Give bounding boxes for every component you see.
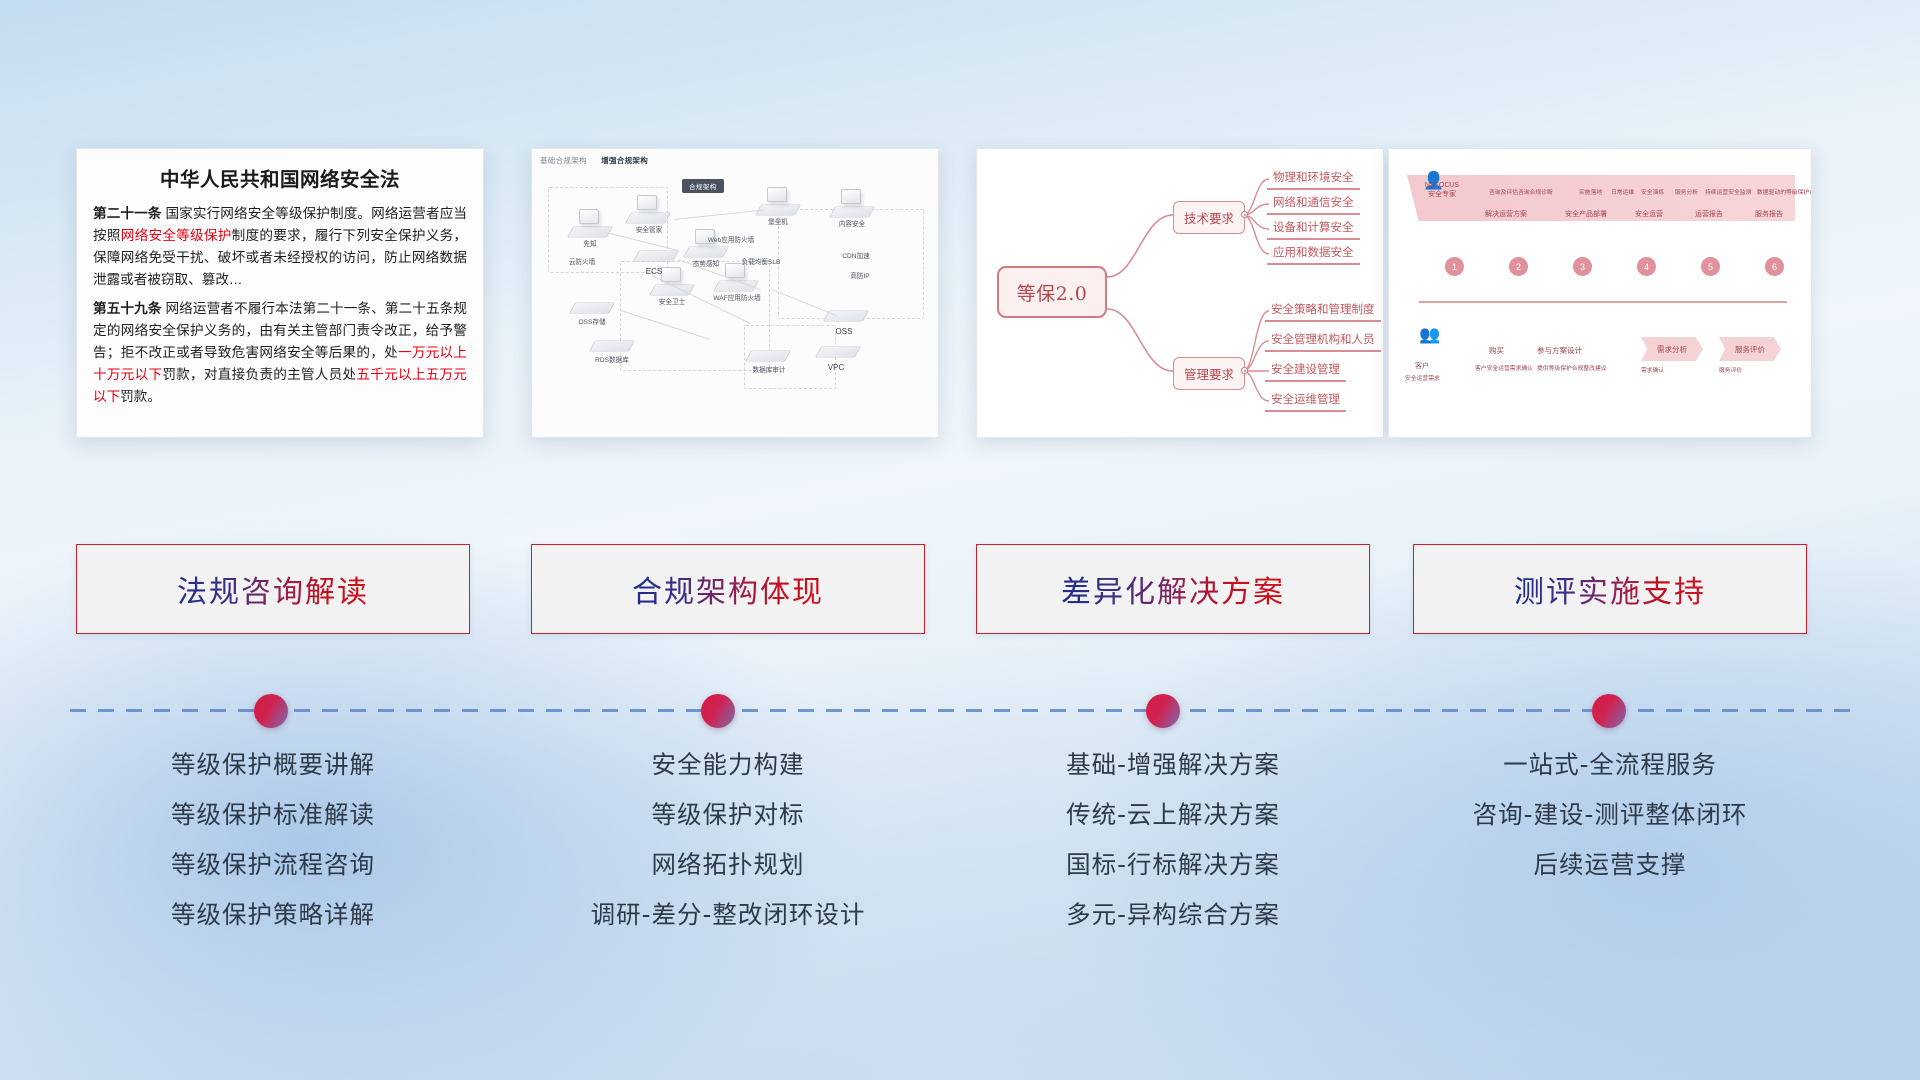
roadmap-bottom-item-3: 服务评价 xyxy=(1719,365,1742,374)
node-label-16: 数据库审计 xyxy=(736,367,802,375)
list-item[interactable]: 基础-增强解决方案 xyxy=(976,740,1370,790)
plate-rds xyxy=(589,341,635,352)
icon-anquanguanjia xyxy=(637,195,657,210)
icon-baoleiji xyxy=(767,187,787,202)
card-mindmap-dengbao[interactable]: 等保2.0 技术要求 物理和环境安全 网络和通信安全 设备和计算安全 应用和数据… xyxy=(976,148,1384,438)
roadmap-top-cell-2: 日常运维 xyxy=(1611,187,1634,196)
article-21-highlight: 网络安全等级保护 xyxy=(121,228,232,243)
roadmap-foot-1: 提供等级保护合规整改建议 xyxy=(1537,363,1607,372)
plate-db-audit xyxy=(745,351,791,362)
roadmap-bottom-item-2: 需求确认 xyxy=(1641,365,1664,374)
node-label-6: 安全卫士 xyxy=(646,299,698,307)
roadmap-step-5[interactable]: 5 xyxy=(1701,257,1720,276)
roadmap-top-cell-0: 咨询及评估咨询合规诊断 xyxy=(1489,187,1553,196)
node-label-15: RDS数据库 xyxy=(580,357,644,365)
connector-2 xyxy=(674,210,764,220)
node-label-11: 高防IP xyxy=(838,273,882,281)
roadmap-pill-1: 安全产品部署 xyxy=(1565,209,1607,219)
roadmap-step-3[interactable]: 3 xyxy=(1573,257,1592,276)
roadmap-pill-4: 服务报告 xyxy=(1755,209,1783,219)
customer-icon: 👥 xyxy=(1419,325,1440,345)
roadmap-top-cell-4: 服务分析 xyxy=(1675,187,1698,196)
section-headings-row: 法规咨询解读 合规架构体现 差异化解决方案 测评实施支持 xyxy=(0,544,1920,634)
plate-ecs xyxy=(633,251,679,262)
section-heading-1[interactable]: 法规咨询解读 xyxy=(76,544,470,634)
roadmap-bottom-item-1: 参与方案设计 xyxy=(1537,345,1582,356)
preview-cards-row: 中华人民共和国网络安全法 第二十一条 国家实行网络安全等级保护制度。网络运营者应… xyxy=(0,148,1920,440)
plate-xianzhi xyxy=(567,227,613,238)
mindmap-leaf-t3[interactable]: 应用和数据安全 xyxy=(1267,244,1360,265)
section-heading-4[interactable]: 测评实施支持 xyxy=(1413,544,1807,634)
list-item[interactable]: 国标-行标解决方案 xyxy=(976,840,1370,890)
section-heading-3-label: 差异化解决方案 xyxy=(1061,567,1285,611)
plate-oss-storage xyxy=(569,303,615,314)
list-item[interactable]: 后续运营支撑 xyxy=(1413,840,1807,890)
icon-xianzhi xyxy=(579,209,599,224)
node-label-7: WAF应用防火墙 xyxy=(706,295,768,303)
node-label-10: CDN加速 xyxy=(832,253,880,261)
roadmap-pill-2: 安全运营 xyxy=(1635,209,1663,219)
plate-neirong xyxy=(829,207,875,218)
roadmap-logo: NSFOCUS 安全专家 xyxy=(1411,181,1473,217)
architecture-tabs[interactable]: 基础合规架构 增强合规架构 xyxy=(540,155,660,166)
section-items-4: 一站式-全流程服务 咨询-建设-测评整体闭环 后续运营支撑 xyxy=(1413,740,1807,890)
roadmap-step-4[interactable]: 4 xyxy=(1637,257,1656,276)
article-21-label: 第二十一条 xyxy=(93,206,162,221)
roadmap-chevron-1: 服务评价 xyxy=(1719,337,1781,361)
node-label-0: 先知 xyxy=(568,241,612,249)
node-label-14: OSS存储 xyxy=(564,319,620,327)
law-article-21: 第二十一条 国家实行网络安全等级保护制度。网络运营者应当按照网络安全等级保护制度… xyxy=(93,203,467,291)
roadmap-pill-3: 运营报告 xyxy=(1695,209,1723,219)
card-service-roadmap[interactable]: 👤 NSFOCUS 安全专家 咨询及评估咨询合规诊断 实施落地 日常运维 安全演… xyxy=(1388,148,1812,438)
mindmap-leaf-t2[interactable]: 设备和计算安全 xyxy=(1267,219,1360,240)
architecture-chip: 合规架构 xyxy=(682,179,724,193)
mindmap-collapse-dot-technical[interactable] xyxy=(1241,211,1248,218)
law-body: 中华人民共和国网络安全法 第二十一条 国家实行网络安全等级保护制度。网络运营者应… xyxy=(77,149,483,423)
customer-label-2: 安全运营需求 xyxy=(1405,373,1440,382)
roadmap-diagram: 👤 NSFOCUS 安全专家 咨询及评估咨询合规诊断 实施落地 日常运维 安全演… xyxy=(1389,149,1811,437)
list-item[interactable]: 咨询-建设-测评整体闭环 xyxy=(1413,790,1807,840)
list-item[interactable]: 安全能力构建 xyxy=(531,740,925,790)
node-label-9: 负载均衡SLB xyxy=(728,259,794,267)
section-items-2: 安全能力构建 等级保护对标 网络拓扑规划 调研-差分-整改闭环设计 xyxy=(531,740,925,940)
list-item[interactable]: 调研-差分-整改闭环设计 xyxy=(531,890,925,940)
timeline xyxy=(0,690,1920,730)
architecture-diagram: 基础合规架构 增强合规架构 合规架构 先知 云防火墙 安全管家 态势感知 xyxy=(532,149,938,437)
mindmap-leaf-t1[interactable]: 网络和通信安全 xyxy=(1267,194,1360,215)
section-items-3: 基础-增强解决方案 传统-云上解决方案 国标-行标解决方案 多元-异构综合方案 xyxy=(976,740,1370,940)
mindmap-leaf-m2[interactable]: 安全建设管理 xyxy=(1265,361,1346,382)
logo-line-2: 安全专家 xyxy=(1411,190,1473,199)
list-item[interactable]: 网络拓扑规划 xyxy=(531,840,925,890)
timeline-dot-1[interactable] xyxy=(254,694,288,728)
roadmap-top-cell-5: 持续运营安全监测 xyxy=(1705,187,1751,196)
node-label-1: 安全管家 xyxy=(624,227,674,235)
timeline-dot-4[interactable] xyxy=(1592,694,1626,728)
list-item[interactable]: 等级保护概要讲解 xyxy=(76,740,470,790)
list-item[interactable]: 等级保护标准解读 xyxy=(76,790,470,840)
roadmap-axis xyxy=(1419,301,1787,303)
plate-shitaiganzhi xyxy=(683,247,729,258)
icon-neirong xyxy=(841,189,861,204)
mindmap-branch-management[interactable]: 管理要求 xyxy=(1173,357,1245,390)
law-title: 中华人民共和国网络安全法 xyxy=(93,163,467,192)
node-label-3: 堡垒机 xyxy=(754,219,802,227)
list-item[interactable]: 多元-异构综合方案 xyxy=(976,890,1370,940)
roadmap-step-2[interactable]: 2 xyxy=(1509,257,1528,276)
roadmap-foot-0: 客户安全运营需求确认 xyxy=(1475,363,1533,372)
mindmap-branch-technical[interactable]: 技术要求 xyxy=(1173,201,1245,234)
section-heading-3[interactable]: 差异化解决方案 xyxy=(976,544,1370,634)
roadmap-top-cell-1: 实施落地 xyxy=(1579,187,1602,196)
roadmap-pill-0: 解决运营方案 xyxy=(1485,209,1527,219)
mindmap-leaf-m1[interactable]: 安全管理机构和人员 xyxy=(1265,331,1381,352)
mindmap-leaf-m0[interactable]: 安全策略和管理制度 xyxy=(1265,301,1381,322)
section-heading-2-label: 合规架构体现 xyxy=(632,567,824,611)
list-item[interactable]: 等级保护流程咨询 xyxy=(76,840,470,890)
slide-canvas: 中华人民共和国网络安全法 第二十一条 国家实行网络安全等级保护制度。网络运营者应… xyxy=(0,0,1920,1080)
list-item[interactable]: 传统-云上解决方案 xyxy=(976,790,1370,840)
timeline-dot-2[interactable] xyxy=(701,694,735,728)
roadmap-step-6[interactable]: 6 xyxy=(1765,257,1784,276)
node-label-8: Web应用防火墙 xyxy=(700,237,762,245)
section-heading-4-label: 测评实施支持 xyxy=(1514,567,1706,611)
timeline-dashed-line xyxy=(70,709,1850,712)
mindmap-leaf-t0[interactable]: 物理和环境安全 xyxy=(1267,169,1360,190)
plate-vpc xyxy=(815,347,861,358)
timeline-dot-3[interactable] xyxy=(1146,694,1180,728)
node-label-13: OSS xyxy=(822,327,866,337)
roadmap-chevron-0: 需求分析 xyxy=(1641,337,1703,361)
tab-basic[interactable]: 基础合规架构 xyxy=(540,156,587,165)
mindmap-root-node[interactable]: 等保2.0 xyxy=(997,266,1107,318)
list-item[interactable]: 一站式-全流程服务 xyxy=(1413,740,1807,790)
article-59-text-c: 罚款。 xyxy=(120,389,161,404)
mindmap: 等保2.0 技术要求 物理和环境安全 网络和通信安全 设备和计算安全 应用和数据… xyxy=(977,149,1383,437)
logo-line-1: NSFOCUS xyxy=(1411,181,1473,190)
node-label-17: VPC xyxy=(814,363,858,373)
article-59-text-b: 罚款，对直接负责的主管人员处 xyxy=(162,367,356,382)
list-item[interactable]: 等级保护对标 xyxy=(531,790,925,840)
node-label-18: 内容安全 xyxy=(826,221,878,229)
roadmap-step-1[interactable]: 1 xyxy=(1445,257,1464,276)
mindmap-leaf-m3[interactable]: 安全运维管理 xyxy=(1265,391,1346,412)
article-59-label: 第五十九条 xyxy=(93,301,162,316)
customer-label-1: 客户 xyxy=(1415,361,1429,371)
tab-enhanced[interactable]: 增强合规架构 xyxy=(601,156,648,165)
card-cybersecurity-law[interactable]: 中华人民共和国网络安全法 第二十一条 国家实行网络安全等级保护制度。网络运营者应… xyxy=(76,148,484,438)
section-heading-2[interactable]: 合规架构体现 xyxy=(531,544,925,634)
node-label-4: 云防火墙 xyxy=(552,259,612,267)
law-article-59: 第五十九条 网络运营者不履行本法第二十一条、第二十五条规定的网络安全保护义务的，… xyxy=(93,298,467,408)
section-heading-1-label: 法规咨询解读 xyxy=(177,567,369,611)
list-item[interactable]: 等级保护策略详解 xyxy=(76,890,470,940)
roadmap-top-cell-3: 安全演练 xyxy=(1641,187,1664,196)
card-compliance-architecture[interactable]: 基础合规架构 增强合规架构 合规架构 先知 云防火墙 安全管家 态势感知 xyxy=(531,148,939,438)
plate-anquanguanjia xyxy=(625,213,671,224)
mindmap-collapse-dot-management[interactable] xyxy=(1241,367,1248,374)
roadmap-bottom-item-0: 购买 xyxy=(1489,345,1504,356)
section-items-1: 等级保护概要讲解 等级保护标准解读 等级保护流程咨询 等级保护策略详解 xyxy=(76,740,470,940)
roadmap-top-cell-6: 数据驱动的等级保护合规运营服务 xyxy=(1757,187,1812,196)
